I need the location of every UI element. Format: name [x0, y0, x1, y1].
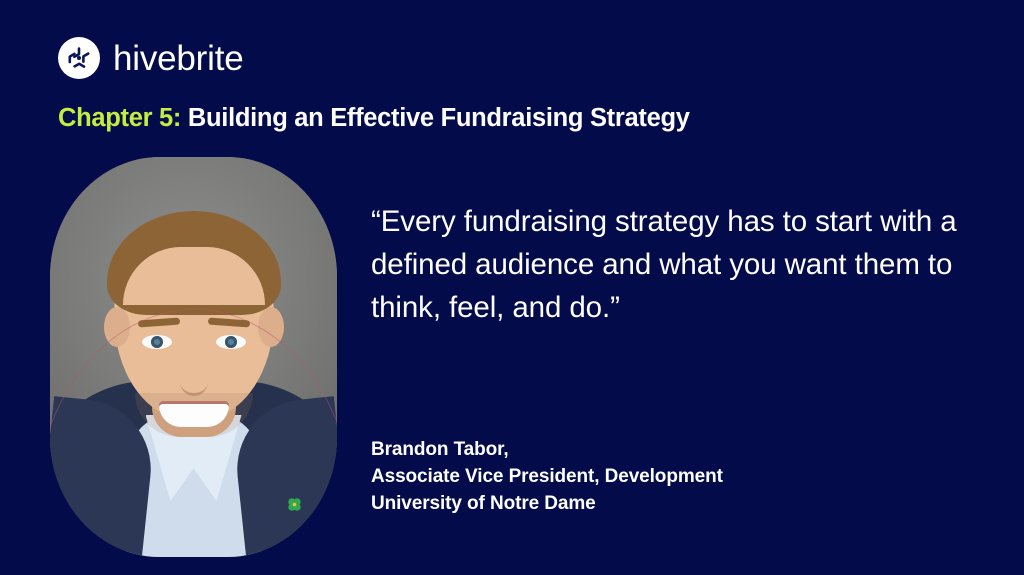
brand-wordmark: hivebrite: [113, 41, 244, 76]
attribution-role: Associate Vice President, Development: [371, 463, 723, 490]
page-title: Chapter 5: Building an Effective Fundrai…: [58, 104, 690, 133]
portrait-mouth: [159, 401, 229, 427]
shamrock-pin-icon: [286, 496, 303, 513]
portrait-backdrop: [50, 157, 337, 557]
quote-slide: hivebrite Chapter 5: Building an Effecti…: [0, 0, 1024, 575]
attribution-name: Brandon Tabor,: [371, 436, 723, 463]
hivebrite-hex-logo-icon: [58, 37, 100, 79]
chapter-title-text: Building an Effective Fundraising Strate…: [181, 104, 690, 132]
portrait-ear-right: [258, 307, 284, 347]
portrait-ear-left: [104, 307, 130, 347]
speaker-portrait: [50, 157, 337, 557]
portrait-eye-left: [142, 335, 172, 349]
portrait-eye-right: [216, 335, 246, 349]
portrait-hair: [107, 211, 281, 315]
portrait-nose: [180, 357, 208, 396]
brand-logo: hivebrite: [58, 37, 244, 79]
quote-attribution: Brandon Tabor, Associate Vice President,…: [371, 436, 723, 517]
quote-text: “Every fundraising strategy has to start…: [371, 200, 971, 329]
chapter-label: Chapter 5:: [58, 104, 181, 132]
attribution-organization: University of Notre Dame: [371, 490, 723, 517]
